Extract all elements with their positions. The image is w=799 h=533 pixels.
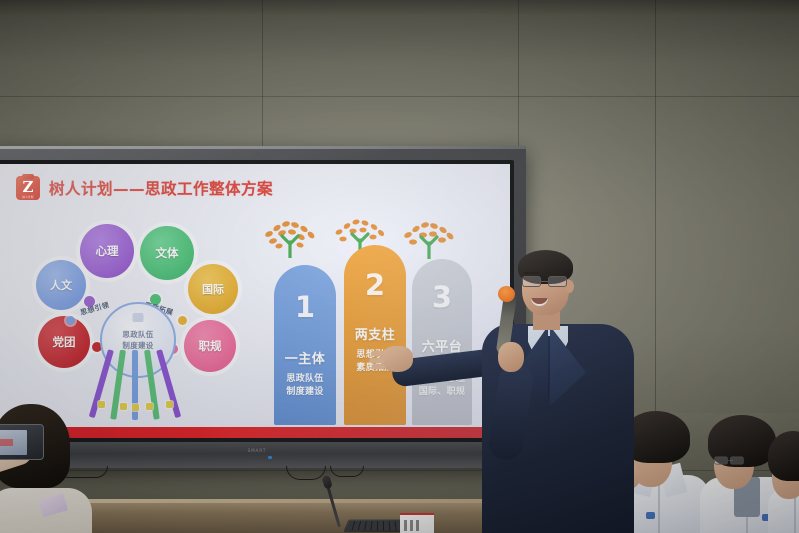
bubble-humanities: 人文: [36, 260, 86, 310]
camera-dot-icon: [255, 152, 260, 156]
presenter-mic-hand: [498, 342, 524, 372]
center-line-1: 思政队伍: [122, 330, 153, 339]
slide-header: Z 树人计划 树人计划——思政工作整体方案: [16, 176, 273, 200]
name-card-text: [410, 520, 413, 531]
connector-dot: [66, 316, 75, 325]
logo-subtext: 树人计划: [16, 195, 40, 199]
logo-letter: Z: [23, 180, 34, 195]
display-brand-label: SMART: [248, 448, 267, 453]
eyeglasses-icon: [714, 457, 736, 465]
presenter: [476, 246, 646, 533]
root-tag: [132, 404, 139, 411]
pillar-number: 3: [432, 283, 452, 312]
organization-logo-icon: Z 树人计划: [16, 176, 40, 200]
bubble-arts-sports: 文体: [140, 226, 194, 280]
pillar-sub-line: 制度建设: [286, 386, 323, 399]
pillar-number: 2: [365, 271, 385, 300]
pillar-subtitle: 思政队伍 制度建设: [286, 373, 323, 399]
pillar-title: 一主体: [285, 348, 326, 367]
eyeglasses-icon: [522, 276, 568, 287]
pillar-three: 3 六平台 党团 文体、心理 国际、职规: [412, 259, 472, 425]
three-pillars-graphic: 1 一主体 思政队伍 制度建设 2 两支柱 思想引领 素质拓展: [252, 220, 467, 425]
connector-dot: [178, 316, 187, 325]
attendee-4: [768, 429, 799, 533]
finger: [369, 358, 385, 363]
shield-icon: [133, 313, 144, 322]
name-card: [400, 513, 434, 533]
conference-room-scene: Z 树人计划 树人计划——思政工作整体方案 心理 文体 人文 国际 党团: [0, 0, 799, 533]
bubble-psychology: 心理: [80, 224, 134, 278]
pillar-title: 两支柱: [355, 324, 396, 343]
tree-icon: [398, 219, 460, 259]
lens-left: [522, 276, 541, 287]
bubble-tree-diagram: 心理 文体 人文 国际 党团 职规: [28, 224, 248, 419]
pillar-sub-line: 思政队伍: [286, 373, 323, 386]
slide-title: 树人计划——思政工作整体方案: [49, 177, 273, 199]
attendee-recording: [0, 404, 114, 533]
finger: [372, 364, 385, 369]
smartphone[interactable]: [0, 424, 44, 460]
bubble-international: 国际: [188, 264, 238, 314]
pillar-sub-line: 国际、职规: [419, 386, 466, 399]
smartphone-screen: [0, 430, 27, 455]
attendee-hair: [768, 431, 799, 481]
coat-logo-icon: [646, 512, 655, 519]
pillar-number: 1: [295, 293, 315, 322]
display-top-trim: [0, 146, 526, 149]
bridge: [541, 281, 548, 282]
root-tag: [120, 403, 127, 410]
name-card-text: [404, 520, 407, 531]
root-tag: [146, 403, 153, 410]
root-tag: [166, 401, 173, 408]
tree-icon: [259, 218, 321, 258]
power-led-icon: [268, 456, 272, 459]
presenter-pointing-hand: [380, 346, 413, 372]
pillar-one: 1 一主体 思政队伍 制度建设: [274, 265, 336, 425]
presentation-slide[interactable]: Z 树人计划 树人计划——思政工作整体方案 心理 文体 人文 国际 党团: [0, 164, 510, 438]
bubble-career-planning: 职规: [184, 320, 236, 372]
name-card-text: [416, 520, 419, 531]
bubble-party-league: 党团: [38, 316, 90, 368]
lens-right: [548, 276, 567, 287]
lens-right: [730, 457, 744, 465]
pillar-two: 2 两支柱 思想引领 素质拓展: [344, 245, 406, 425]
finger: [371, 351, 385, 356]
lens-left: [714, 457, 728, 465]
